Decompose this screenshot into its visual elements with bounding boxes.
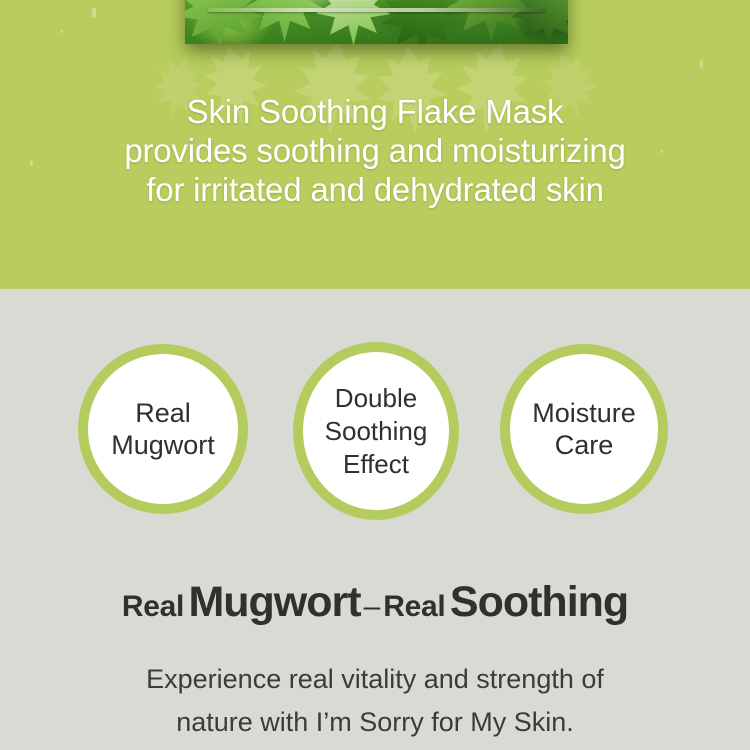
hero-panel: Skin Soothing Flake Mask provides soothi… [0,0,750,289]
hero-headline: Skin Soothing Flake Mask provides soothi… [0,92,750,209]
section-body-copy: Experience real vitality and strength of… [0,658,750,750]
hero-headline-line-2: provides soothing and moisturizing [0,131,750,170]
feature-circle-label: Moisture Care [532,397,636,461]
feature-circles: Real Mugwort Double Soothing Effect Mois… [0,344,750,520]
feature-line: Double [325,382,428,415]
feature-line: Mugwort [111,429,215,461]
body-copy-line-3: It will restore a healthy natural look. [0,744,750,750]
feature-circle-double-soothing-effect: Double Soothing Effect [293,342,459,520]
subheading-large-2: Soothing [450,578,628,626]
fleck-decoration [92,8,96,18]
section-subheading: Real Mugwort–Real Soothing [0,578,750,627]
subheading-large-1: Mugwort [188,578,360,626]
feature-circle-label: Real Mugwort [111,397,215,461]
feature-circle-real-mugwort: Real Mugwort [78,344,248,514]
body-copy-line-1: Experience real vitality and strength of [0,658,750,701]
fleck-decoration [60,30,63,33]
fleck-decoration [700,60,703,68]
mugwort-photo-frame [185,0,568,44]
body-copy-line-2: nature with I’m Sorry for My Skin. [0,701,750,744]
leaf-stem-icon [208,8,545,12]
mugwort-photo [185,0,568,44]
feature-circle-moisture-care: Moisture Care [500,344,668,514]
subheading-small-1: Real [122,590,184,623]
feature-circle-label: Double Soothing Effect [325,382,428,481]
feature-line: Care [532,429,636,461]
feature-line: Real [111,397,215,429]
feature-line: Moisture [532,397,636,429]
feature-line: Effect [325,448,428,481]
feature-line: Soothing [325,415,428,448]
subheading-small-2: Real [383,590,445,623]
subheading-dash: – [361,590,384,623]
hero-headline-line-3: for irritated and dehydrated skin [0,170,750,209]
hero-headline-line-1: Skin Soothing Flake Mask [0,92,750,131]
